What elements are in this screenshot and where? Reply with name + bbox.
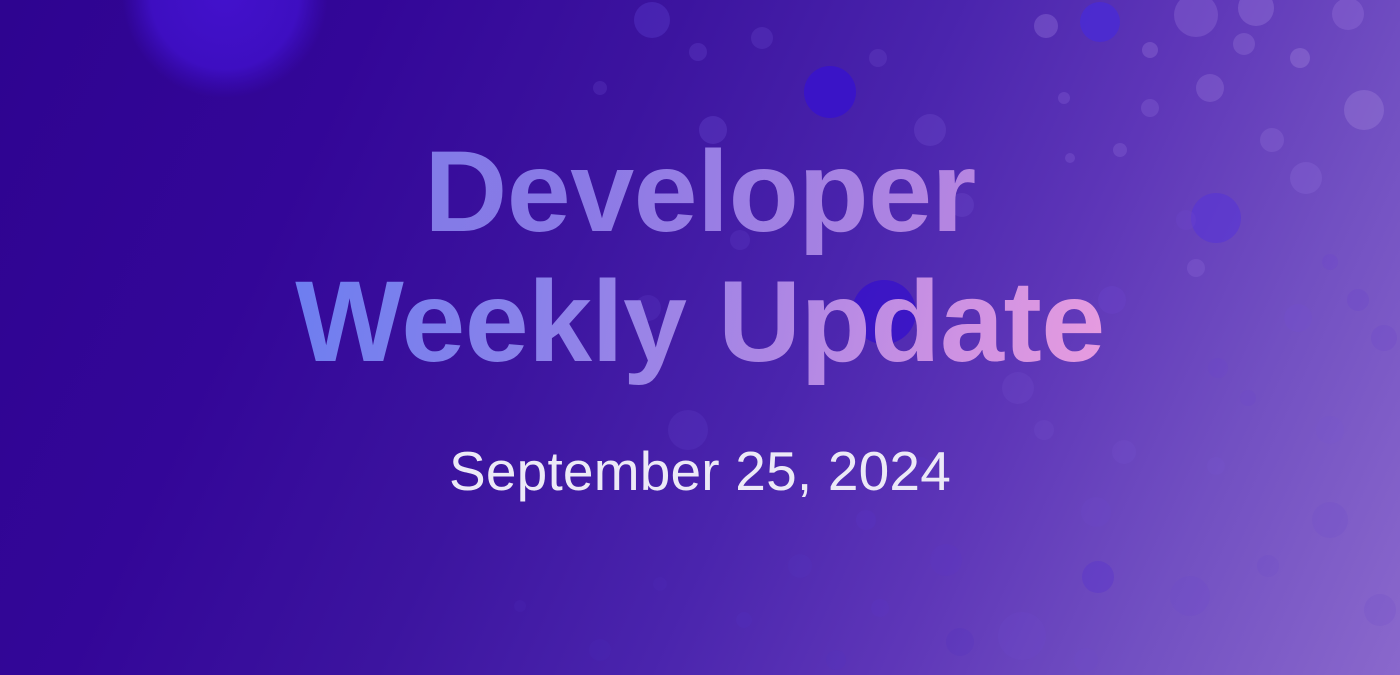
- headline-line-2: Weekly Update: [295, 258, 1104, 388]
- developer-weekly-update-banner: Developer Weekly Update September 25, 20…: [0, 0, 1400, 675]
- banner-content: Developer Weekly Update September 25, 20…: [0, 0, 1400, 675]
- headline-line-1: Developer: [295, 128, 1104, 258]
- text-stack: Developer Weekly Update September 25, 20…: [295, 128, 1104, 504]
- event-date: September 25, 2024: [295, 439, 1104, 503]
